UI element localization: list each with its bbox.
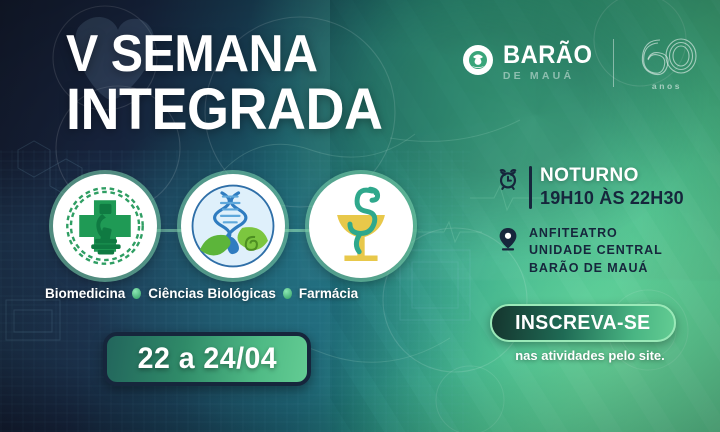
barao-circle-logo-icon	[462, 44, 494, 81]
venue-line-1: ANFITEATRO	[529, 225, 663, 243]
anniversary-mark: anos	[630, 34, 704, 91]
event-info: NOTURNO 19H10 ÀS 22H30 ANFITEATRO UNIDAD…	[496, 166, 708, 278]
bowl-of-hygieia-icon	[315, 180, 407, 272]
schedule-accent-bar	[529, 166, 532, 209]
venue-line-3: BARÃO DE MAUÁ	[529, 260, 663, 278]
event-banner: V SEMANA INTEGRADA BARÃO DE MAUÁ	[0, 0, 720, 432]
brand-name: BARÃO	[503, 43, 592, 68]
course-badge-ciencias-biologicas[interactable]	[181, 174, 285, 278]
anniversary-label: anos	[652, 81, 682, 91]
title-line-2: INTEGRADA	[66, 82, 382, 138]
date-badge: 22 a 24/04	[103, 332, 311, 386]
venue-address: ANFITEATRO UNIDADE CENTRAL BARÃO DE MAUÁ	[529, 225, 663, 278]
register-subtext: nas atividades pelo site.	[490, 348, 690, 363]
separator-dot-icon	[132, 288, 141, 299]
course-label-farmacia: Farmácia	[299, 286, 358, 301]
course-label-ciencias-biologicas: Ciências Biológicas	[148, 286, 276, 301]
time-range: 19H10 ÀS 22H30	[540, 188, 684, 209]
course-label-biomedicina: Biomedicina	[45, 286, 125, 301]
course-label-row: Biomedicina Ciências Biológicas Farmácia	[45, 286, 445, 301]
brand-subtitle: DE MAUÁ	[503, 71, 597, 82]
brand-mark: BARÃO DE MAUÁ	[462, 43, 597, 82]
course-badges	[45, 174, 440, 284]
register-button[interactable]: INSCREVA-SE	[490, 304, 676, 342]
course-badge-biomedicina[interactable]	[53, 174, 157, 278]
anniversary-number-icon	[634, 34, 700, 83]
brand-lockup: BARÃO DE MAUÁ anos	[462, 34, 704, 91]
separator-dot-icon	[283, 288, 292, 299]
register-button-label: INSCREVA-SE	[515, 312, 650, 335]
dna-leaf-icon	[187, 180, 279, 272]
title-line-1: V SEMANA	[66, 25, 318, 83]
map-pin-icon	[496, 225, 520, 251]
page-title: V SEMANA INTEGRADA	[66, 30, 382, 138]
info-row-venue: ANFITEATRO UNIDADE CENTRAL BARÃO DE MAUÁ	[496, 225, 708, 278]
microscope-cross-icon	[59, 180, 151, 272]
venue-line-2: UNIDADE CENTRAL	[529, 242, 663, 260]
date-range: 22 a 24/04	[137, 342, 276, 376]
alarm-clock-icon	[496, 166, 520, 190]
brand-text: BARÃO DE MAUÁ	[503, 43, 597, 82]
schedule-text-group: NOTURNO 19H10 ÀS 22H30	[529, 166, 684, 209]
course-badge-farmacia[interactable]	[309, 174, 413, 278]
vertical-divider	[613, 39, 614, 87]
shift-label: NOTURNO	[540, 166, 684, 186]
info-row-schedule: NOTURNO 19H10 ÀS 22H30	[496, 166, 708, 209]
